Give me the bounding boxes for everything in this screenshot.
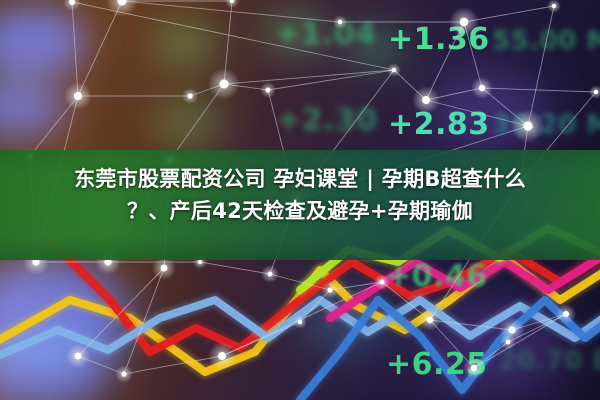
- network-node-22: [268, 272, 273, 277]
- network-node-7: [338, 20, 342, 24]
- network-node-30: [471, 365, 477, 371]
- network-node-21: [161, 265, 168, 272]
- headline-line-2: ？、产后42天检查及避孕+孕期瑜伽: [0, 195, 600, 227]
- network-node-6: [266, 88, 271, 93]
- stock-market-banner: +1.04+1.3655.00 M+2.30+2.8339.20 M37.45 …: [0, 0, 600, 400]
- network-node-5: [220, 80, 229, 89]
- network-node-25: [75, 353, 82, 360]
- network-node-20: [198, 260, 202, 264]
- network-node-26: [121, 371, 126, 376]
- network-node-34: [594, 90, 598, 94]
- network-node-32: [508, 326, 515, 333]
- network-node-10: [422, 96, 430, 104]
- page-title: 东莞市股票配资公司 孕妇课堂 | 孕期B超查什么 ？、产后42天检查及避孕+孕期…: [0, 163, 600, 227]
- network-node-23: [327, 287, 332, 292]
- network-node-3: [74, 92, 82, 100]
- network-node-8: [392, 68, 396, 72]
- headline-line-1: 东莞市股票配资公司 孕妇课堂 | 孕期B超查什么: [0, 163, 600, 195]
- network-node-13: [552, 4, 556, 8]
- network-node-12: [523, 121, 532, 130]
- network-node-29: [427, 317, 433, 323]
- network-node-33: [563, 311, 569, 317]
- network-node-28: [298, 320, 302, 324]
- network-node-11: [479, 85, 485, 91]
- network-node-24: [380, 280, 385, 285]
- network-node-9: [460, 18, 468, 26]
- network-node-4: [187, 93, 192, 98]
- network-node-27: [218, 352, 226, 360]
